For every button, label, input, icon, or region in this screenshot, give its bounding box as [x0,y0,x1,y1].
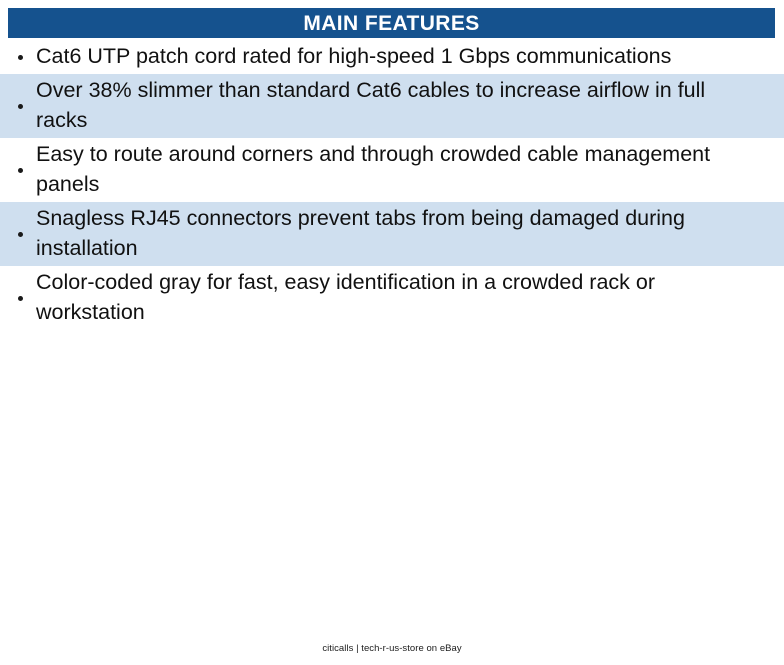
feature-text: Cat6 UTP patch cord rated for high-speed… [36,40,760,74]
bullet-dot-icon [18,104,23,109]
bullet-dot-icon [18,168,23,173]
footer-attribution: citicalls | tech-r-us-store on eBay [322,643,461,654]
content-whitespace [0,330,784,665]
bullet-icon [0,104,36,109]
list-item: Color-coded gray for fast, easy identifi… [0,266,784,330]
feature-text: Over 38% slimmer than standard Cat6 cabl… [36,74,760,138]
features-list: Cat6 UTP patch cord rated for high-speed… [0,40,784,330]
bullet-dot-icon [18,296,23,301]
feature-text: Color-coded gray for fast, easy identifi… [36,266,760,330]
bullet-icon [0,296,36,301]
bullet-dot-icon [18,232,23,237]
footer: citicalls | tech-r-us-store on eBay [0,638,784,656]
feature-text: Easy to route around corners and through… [36,138,760,202]
feature-sheet: MAIN FEATURES Cat6 UTP patch cord rated … [0,0,784,665]
bullet-dot-icon [18,55,23,60]
list-item: Over 38% slimmer than standard Cat6 cabl… [0,74,784,138]
list-item: Cat6 UTP patch cord rated for high-speed… [0,40,784,74]
main-features-banner: MAIN FEATURES [8,8,775,38]
page-title: MAIN FEATURES [303,13,479,34]
list-item: Easy to route around corners and through… [0,138,784,202]
bullet-icon [0,168,36,173]
feature-text: Snagless RJ45 connectors prevent tabs fr… [36,202,760,266]
bullet-icon [0,55,36,60]
list-item: Snagless RJ45 connectors prevent tabs fr… [0,202,784,266]
bullet-icon [0,232,36,237]
